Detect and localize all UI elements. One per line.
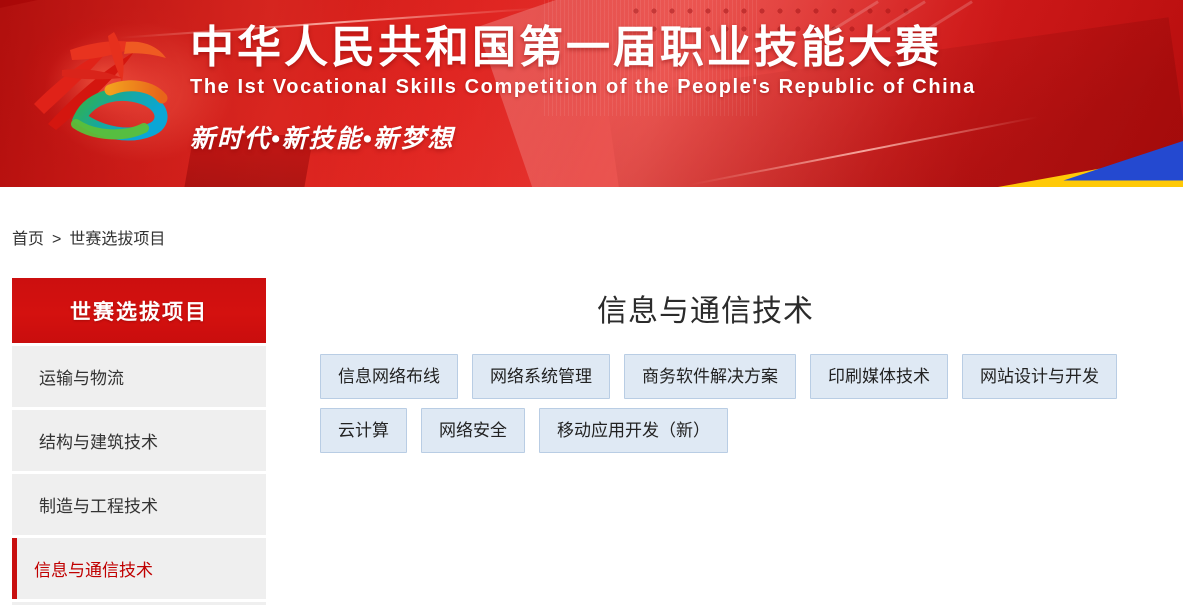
page-title: 信息与通信技术 [300,290,1183,334]
breadcrumb: 首页>世赛选拔项目 [12,228,165,252]
skill-chip-cloud-computing[interactable]: 云计算 [320,408,407,453]
breadcrumb-separator: > [52,231,61,248]
banner-blue-triangle [1053,141,1183,187]
skill-chip-mobile-application-development[interactable]: 移动应用开发（新） [539,408,728,453]
banner-yellow-triangle [998,143,1183,187]
sidebar-item-label: 运输与物流 [12,364,124,389]
sidebar-header: 世赛选拔项目 [12,278,266,343]
banner-title-group: 中华人民共和国第一届职业技能大赛 The Ist Vocational Skil… [190,22,976,155]
breadcrumb-current: 世赛选拔项目 [69,231,165,248]
sidebar-item-construction-building[interactable]: 结构与建筑技术 [12,410,266,471]
skill-chip-row: 云计算 网络安全 移动应用开发（新） [320,408,1177,453]
banner-title-english: The Ist Vocational Skills Competition of… [190,76,976,99]
breadcrumb-home-link[interactable]: 首页 [12,231,44,248]
sidebar-item-label: 制造与工程技术 [12,492,158,517]
sidebar-item-label: 结构与建筑技术 [12,428,158,453]
skill-chip-list: 信息网络布线 网络系统管理 商务软件解决方案 印刷媒体技术 网站设计与开发 云计… [300,354,1183,453]
skill-chip-network-system-administration[interactable]: 网络系统管理 [472,354,610,399]
banner-slogan: 新时代•新技能•新梦想 [190,119,976,155]
skill-chip-web-technologies[interactable]: 网站设计与开发 [962,354,1117,399]
skill-chip-it-software-solutions-for-business[interactable]: 商务软件解决方案 [624,354,796,399]
sidebar-item-label: 信息与通信技术 [12,556,153,581]
page-content: 世赛选拔项目 运输与物流 结构与建筑技术 制造与工程技术 信息与通信技术 信息与… [0,278,1183,612]
skill-chip-cyber-security[interactable]: 网络安全 [421,408,525,453]
sidebar-item-transport-logistics[interactable]: 运输与物流 [12,346,266,407]
sidebar-item-next-partial[interactable] [12,602,266,605]
skill-chip-row: 信息网络布线 网络系统管理 商务软件解决方案 印刷媒体技术 网站设计与开发 [320,354,1177,399]
sidebar-item-information-communication[interactable]: 信息与通信技术 [12,538,266,599]
site-banner: 中华人民共和国第一届职业技能大赛 The Ist Vocational Skil… [0,0,1183,187]
category-sidebar: 世赛选拔项目 运输与物流 结构与建筑技术 制造与工程技术 信息与通信技术 [12,278,266,605]
sidebar-item-manufacturing-engineering[interactable]: 制造与工程技术 [12,474,266,535]
main-panel: 信息与通信技术 信息网络布线 网络系统管理 商务软件解决方案 印刷媒体技术 网站… [300,278,1183,462]
competition-emblem-icon [18,12,186,152]
skill-chip-information-network-cabling[interactable]: 信息网络布线 [320,354,458,399]
skill-chip-print-media-technology[interactable]: 印刷媒体技术 [810,354,948,399]
banner-title-chinese: 中华人民共和国第一届职业技能大赛 [190,22,976,74]
